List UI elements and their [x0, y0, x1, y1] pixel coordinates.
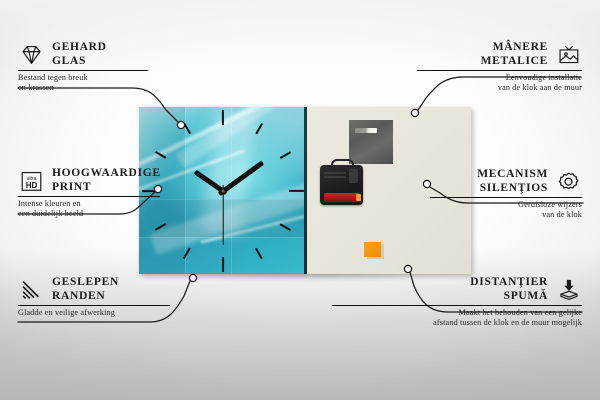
- title-rule: [417, 70, 582, 71]
- connector-node-manere-metalice: [411, 109, 418, 116]
- diamond-icon: [18, 43, 45, 67]
- foam-spacer-icon: [555, 278, 582, 302]
- bevelled-edges-icon: [18, 278, 45, 302]
- connector-node-geslepen-randen: [189, 274, 196, 281]
- feature-description: Eenvoudige installatievan de klok aan de…: [417, 73, 582, 94]
- feature-description: Geruisloze wijzersvan de klok: [430, 200, 582, 221]
- infographic-canvas: GEHARDGLAS Bestand tegen breuken krassen…: [0, 0, 600, 400]
- title-rule: [332, 305, 582, 306]
- feature-geslepen-randen[interactable]: GESLEPENRANDEN Gladde en veilige afwerki…: [18, 276, 170, 318]
- feature-description: Intense kleuren eneen duidelijk beeld: [18, 199, 160, 220]
- title-rule: [18, 70, 148, 71]
- connector-node-gehard-glas: [177, 121, 184, 128]
- picture-hanger-icon: [555, 43, 582, 67]
- feature-hoogwaardige-print[interactable]: ultra HD HOOGWAARDIGEPRINT Intense kleur…: [18, 167, 160, 220]
- feature-gehard-glas[interactable]: GEHARDGLAS Bestand tegen breuken krassen: [18, 41, 148, 94]
- feature-title: MECANISMSILENŢIOS: [477, 168, 548, 195]
- feature-description: Gladde en veilige afwerking: [18, 308, 170, 318]
- feature-manere-metalice[interactable]: MÂNEREMETALICE Eenvoudige installatievan…: [417, 41, 582, 94]
- feature-title: HOOGWAARDIGEPRINT: [52, 167, 161, 194]
- feature-mecanism-silentios[interactable]: MECANISMSILENŢIOS Geruisloze wijzersvan …: [430, 168, 582, 221]
- feature-title: DISTANŢIERSPUMĂ: [470, 276, 548, 303]
- gear-icon: [555, 170, 582, 194]
- title-rule: [18, 305, 170, 306]
- feature-distantier-spuma[interactable]: DISTANŢIERSPUMĂ Maakt het behouden van e…: [332, 276, 582, 329]
- title-rule: [430, 197, 582, 198]
- ultra-hd-icon: ultra HD: [18, 169, 45, 193]
- title-rule: [18, 196, 160, 197]
- feature-title: GESLEPENRANDEN: [52, 276, 119, 303]
- feature-title: GEHARDGLAS: [52, 41, 107, 68]
- feature-description: Bestand tegen breuken krassen: [18, 73, 148, 94]
- feature-description: Maakt het behouden van een gelijkeafstan…: [332, 308, 582, 329]
- connector-node-distantier-spuma: [404, 265, 411, 272]
- feature-title: MÂNEREMETALICE: [481, 41, 548, 68]
- svg-text:HD: HD: [26, 180, 38, 189]
